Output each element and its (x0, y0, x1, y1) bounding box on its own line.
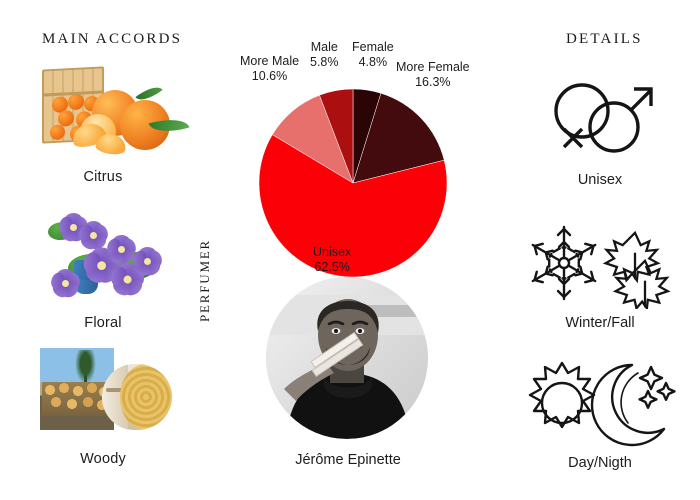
pie-label-male: Male 5.8% (310, 40, 339, 70)
accord-item-floral: Floral (18, 208, 188, 331)
detail-label: Day/Nigth (505, 455, 695, 471)
perfumer-portrait (266, 277, 428, 439)
detail-label: Unisex (505, 172, 695, 188)
sun-and-crescent-moon-icon (520, 357, 680, 449)
pie-label-more-female: More Female 16.3% (396, 60, 470, 90)
main-accords-header: MAIN ACCORDS (42, 31, 182, 48)
detail-item-gender: Unisex (505, 72, 695, 188)
male-female-symbols-icon (540, 73, 660, 167)
woody-image (18, 344, 188, 444)
detail-label: Winter/Fall (505, 315, 695, 331)
birch-log-shape (102, 364, 172, 430)
details-header: DETAILS (566, 31, 643, 48)
accord-label: Citrus (18, 169, 188, 185)
accord-item-woody: Woody (18, 344, 188, 467)
accord-label: Floral (18, 315, 188, 331)
detail-item-time-of-day: Day/Nigth (505, 355, 695, 471)
accord-item-citrus: Citrus (18, 62, 188, 185)
perfumer-name: Jérôme Epinette (248, 452, 448, 468)
pie-label-unisex: Unisex 62.5% (313, 245, 351, 275)
floral-image (18, 208, 188, 308)
pie-chart-svg (258, 88, 448, 278)
perfumer-section-label: PERFUMER (197, 239, 213, 322)
snowflake-and-maple-leaves-icon (520, 217, 680, 309)
violet-flower (48, 266, 82, 300)
detail-item-season: Winter/Fall (505, 215, 695, 331)
violet-flower (104, 232, 138, 266)
citrus-image (18, 62, 188, 162)
pie-label-more-male: More Male 10.6% (240, 54, 299, 84)
pie-label-female: Female 4.8% (352, 40, 394, 70)
accord-label: Woody (18, 451, 188, 467)
fragrance-profile-card: MAIN ACCORDS Citrus (0, 0, 700, 500)
